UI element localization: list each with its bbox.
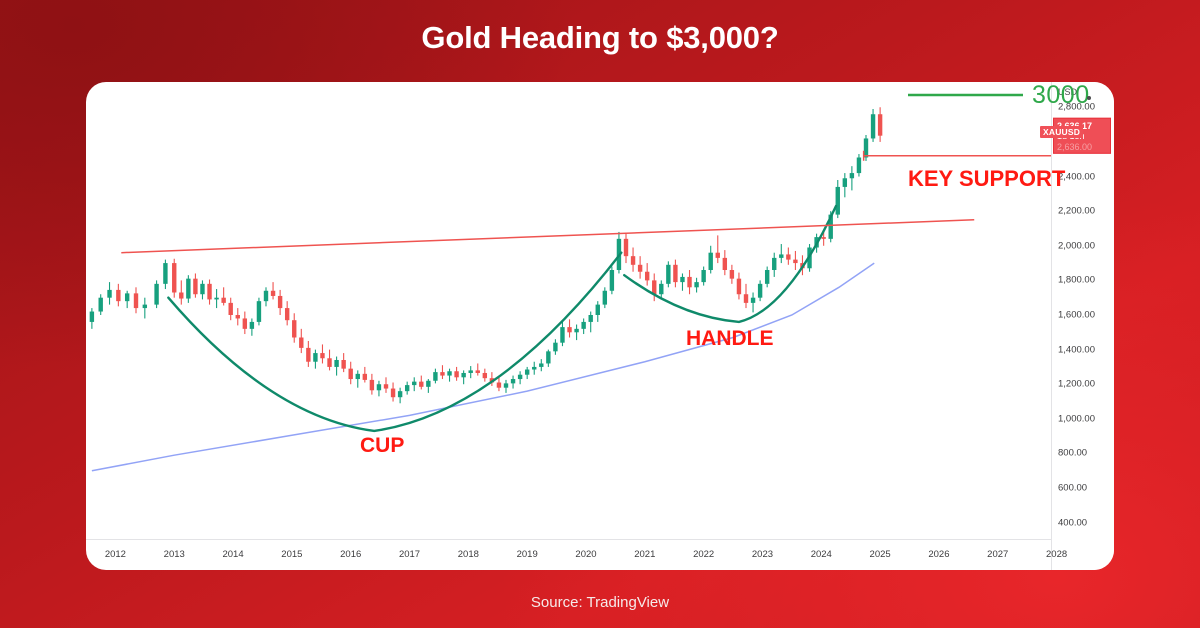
target-price-label: 3000	[1032, 81, 1090, 110]
time-tick: 2020	[575, 549, 596, 560]
time-tick: 2012	[105, 549, 126, 560]
price-tick: 600.00	[1058, 483, 1087, 494]
price-tick: 1,400.00	[1058, 344, 1095, 355]
time-tick: 2027	[987, 549, 1008, 560]
source-caption: Source: TradingView	[0, 594, 1200, 611]
price-tick: 2,000.00	[1058, 240, 1095, 251]
time-tick: 2021	[634, 549, 655, 560]
time-tick: 2015	[281, 549, 302, 560]
price-ghost-value: 2,636.00	[1057, 141, 1108, 152]
key-support-annotation-label: KEY SUPPORT	[908, 166, 1065, 192]
price-tick: 400.00	[1058, 517, 1087, 528]
time-tick: 2014	[222, 549, 243, 560]
chart-plot-area[interactable]	[86, 82, 1086, 570]
time-tick: 2024	[811, 549, 832, 560]
time-axis[interactable]: 2012201320142015201620172018201920202021…	[86, 539, 1052, 570]
symbol-badge: XAUUSD	[1040, 126, 1083, 138]
time-tick: 2019	[517, 549, 538, 560]
target-price-dot	[1087, 96, 1091, 100]
price-tick: 1,000.00	[1058, 413, 1095, 424]
price-tick: 800.00	[1058, 448, 1087, 459]
time-tick: 2017	[399, 549, 420, 560]
cup-annotation-label: CUP	[360, 434, 404, 458]
page-title: Gold Heading to $3,000?	[0, 20, 1200, 56]
price-tick: 1,600.00	[1058, 310, 1095, 321]
time-tick: 2016	[340, 549, 361, 560]
price-tick: 1,200.00	[1058, 379, 1095, 390]
price-tick: 2,200.00	[1058, 206, 1095, 217]
candlestick-chart	[86, 82, 1086, 570]
time-tick: 2025	[870, 549, 891, 560]
time-tick: 2022	[693, 549, 714, 560]
target-price-line	[908, 92, 1028, 98]
time-tick: 2023	[752, 549, 773, 560]
handle-annotation-label: HANDLE	[686, 327, 774, 351]
poster: Gold Heading to $3,000? USD 2,800.002,40…	[0, 0, 1200, 628]
price-axis[interactable]: USD 2,800.002,400.002,200.002,000.001,80…	[1051, 82, 1114, 570]
time-tick: 2026	[928, 549, 949, 560]
chart-card: USD 2,800.002,400.002,200.002,000.001,80…	[86, 82, 1114, 570]
time-tick: 2013	[164, 549, 185, 560]
time-tick: 2018	[458, 549, 479, 560]
price-tick: 1,800.00	[1058, 275, 1095, 286]
time-tick: 2028	[1046, 549, 1067, 560]
